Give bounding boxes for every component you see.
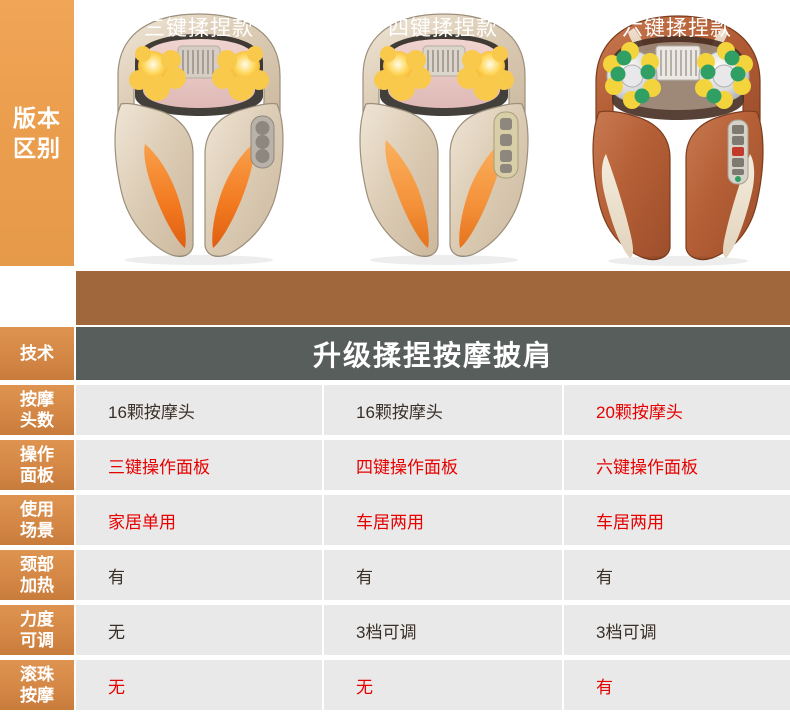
- control-panel-6button: [728, 120, 748, 184]
- tech-banner-text: 升级揉捏按摩披肩: [313, 334, 553, 374]
- cell-r0-c2: 20颗按摩头: [564, 385, 790, 435]
- cell-r4-c1: 3档可调: [324, 605, 562, 655]
- row-label-neck-heating: 颈部加热: [0, 550, 74, 600]
- cell-r3-c2: 有: [564, 550, 790, 600]
- product-name-2: 四键揉捏款: [324, 0, 562, 54]
- cell-r1-c0: 三键操作面板: [76, 440, 322, 490]
- tech-banner: 升级揉捏按摩披肩: [76, 327, 790, 380]
- cell-r1-c2: 六键操作面板: [564, 440, 790, 490]
- cell-r3-c1: 有: [324, 550, 562, 600]
- sidebar-header-label: 版本区别: [13, 103, 61, 163]
- cell-r5-c2: 有: [564, 660, 790, 710]
- cell-r0-c0: 16颗按摩头: [76, 385, 322, 435]
- sidebar-header: 版本区别: [0, 0, 74, 266]
- cell-r2-c1: 车居两用: [324, 495, 562, 545]
- cell-r5-c0: 无: [76, 660, 322, 710]
- cell-r0-c1: 16颗按摩头: [324, 385, 562, 435]
- product-name-1: 三键揉捏款: [76, 0, 322, 54]
- row-label-control-panel: 操作面板: [0, 440, 74, 490]
- row-label-massage-head-count: 按摩头数: [0, 385, 74, 435]
- cell-r2-c2: 车居两用: [564, 495, 790, 545]
- product-name-band: [76, 271, 790, 325]
- comparison-table-page: 版本区别: [0, 0, 790, 719]
- cell-r5-c1: 无: [324, 660, 562, 710]
- row-label-intensity-adjustable: 力度可调: [0, 605, 74, 655]
- cell-r4-c0: 无: [76, 605, 322, 655]
- cell-r2-c0: 家居单用: [76, 495, 322, 545]
- control-panel-4button: [494, 112, 518, 178]
- row-label-technology: 技术: [0, 327, 74, 380]
- control-panel-3button: [251, 116, 274, 168]
- product-name-3: 六键揉捏款: [564, 0, 790, 54]
- row-label-roller-massage: 滚珠按摩: [0, 660, 74, 710]
- row-label-usage-scenario: 使用场景: [0, 495, 74, 545]
- cell-r3-c0: 有: [76, 550, 322, 600]
- cell-r1-c1: 四键操作面板: [324, 440, 562, 490]
- cell-r4-c2: 3档可调: [564, 605, 790, 655]
